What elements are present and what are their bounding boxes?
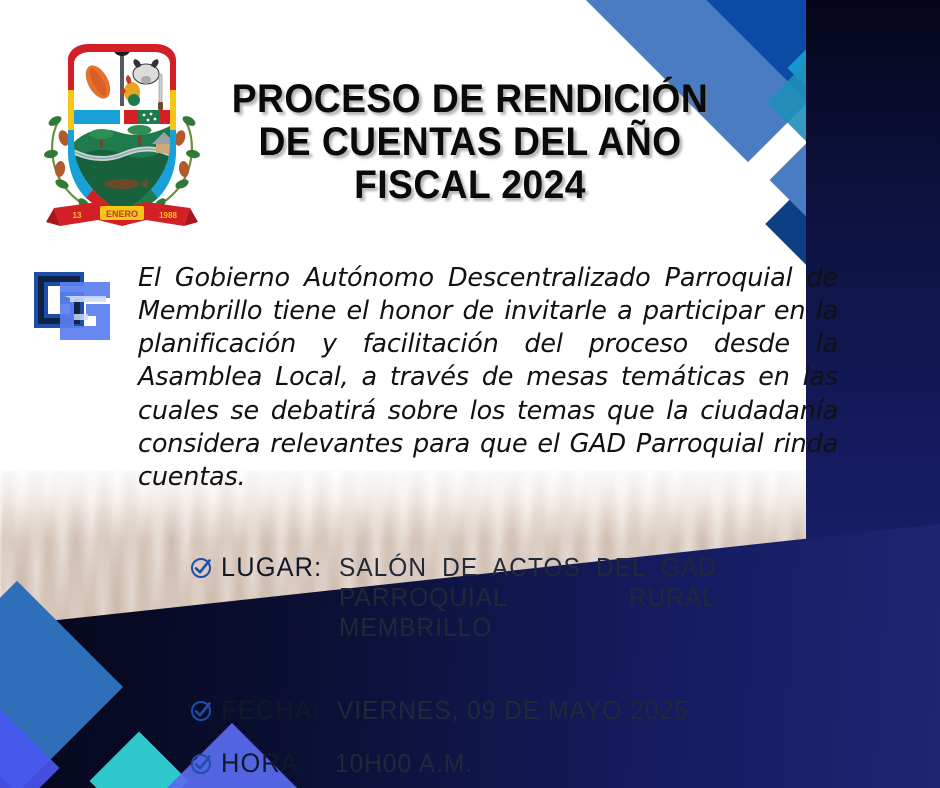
gad-parroquial-logo [28,262,116,344]
poster-title: PROCESO DE RENDICIÓN DE CUENTAS DEL AÑO … [228,78,712,208]
detail-row-fecha: FECHA: VIERNES, 09 DE MAYO 2025 [190,695,800,726]
detail-row-hora: HORA: 10H00 A.M. [190,748,800,779]
coat-of-arms-membrillo: 13 ENERO 1988 [38,26,206,231]
invitation-poster: 13 ENERO 1988 PROCESO DE RENDICIÓN DE CU… [0,0,940,788]
title-line-2: DE CUENTAS DEL AÑO [228,121,712,164]
detail-label-hora: HORA: [221,748,307,779]
detail-value-hora: 10H00 A.M. [335,748,473,778]
check-circle-icon [190,748,216,778]
title-line-3: FISCAL 2024 [228,164,712,207]
event-details-list: LUGAR: SALÓN DE ACTOS DEL GAD PARROQUIAL… [190,552,800,779]
detail-value-fecha: VIERNES, 09 DE MAYO 2025 [337,695,689,725]
check-circle-icon [190,695,216,725]
title-line-1: PROCESO DE RENDICIÓN [228,78,712,121]
detail-label-lugar: LUGAR: [221,552,322,583]
detail-value-lugar: SALÓN DE ACTOS DEL GAD PARROQUIAL RURAL … [339,552,717,673]
detail-row-lugar: LUGAR: SALÓN DE ACTOS DEL GAD PARROQUIAL… [190,552,800,673]
svg-text:1988: 1988 [159,211,177,220]
svg-text:ENERO: ENERO [106,209,138,219]
svg-text:13: 13 [73,211,82,220]
detail-label-fecha: FECHA: [221,695,321,726]
body-paragraph: El Gobierno Autónomo Descentralizado Par… [138,262,838,527]
check-circle-icon [190,552,216,582]
